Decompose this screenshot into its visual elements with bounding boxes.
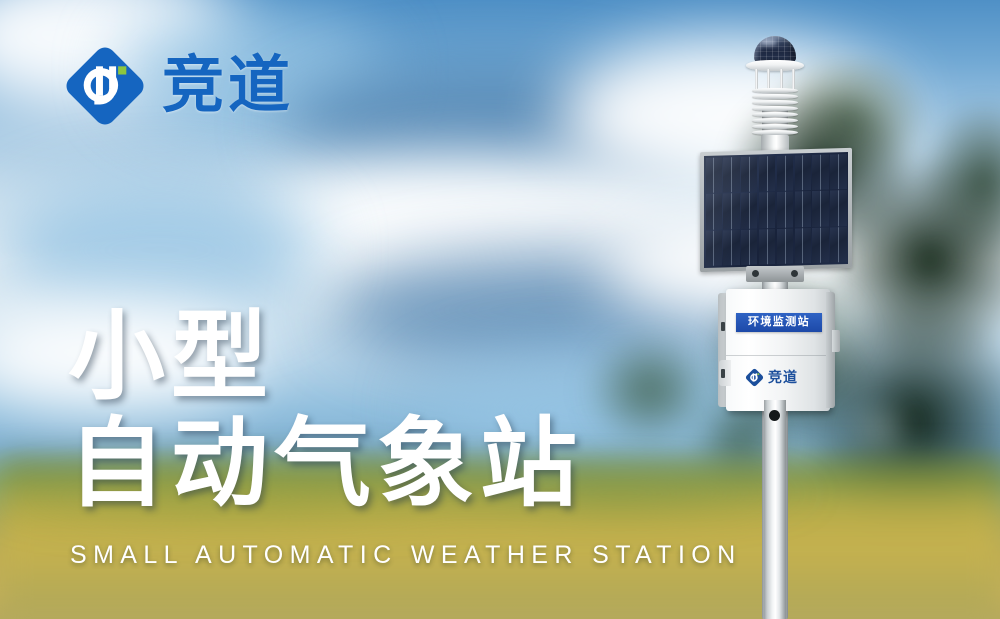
solar-cell xyxy=(812,228,828,264)
brand-name-label: 竞道 xyxy=(162,55,294,117)
solar-cell xyxy=(741,156,757,192)
control-box-latch xyxy=(832,330,840,352)
solar-cell xyxy=(777,155,793,191)
solar-cell xyxy=(812,154,828,190)
mast-pole-lower xyxy=(764,400,786,619)
solar-cell xyxy=(706,231,722,267)
bracket-bolt xyxy=(791,270,798,277)
control-box-seam xyxy=(726,355,830,356)
solar-cell xyxy=(795,228,811,264)
status-banner: 环境监测站 xyxy=(736,313,822,332)
solar-cell xyxy=(759,192,775,228)
solar-cell xyxy=(777,192,793,228)
jingdao-diamond-logo-icon xyxy=(64,45,146,127)
louver xyxy=(752,88,798,93)
louver xyxy=(752,118,798,123)
solar-cell xyxy=(795,155,811,191)
louver xyxy=(752,112,798,117)
bracket-bolt xyxy=(752,270,759,277)
cable-gland xyxy=(721,322,725,331)
solar-cell xyxy=(741,230,757,266)
jingdao-diamond-logo-icon xyxy=(745,368,764,387)
cable-gland xyxy=(721,369,725,378)
subtitle-label: SMALL AUTOMATIC WEATHER STATION xyxy=(70,541,742,570)
headline-line-1: 小型 xyxy=(68,306,583,409)
headline-line-2: 自动气象站 xyxy=(68,413,583,516)
solar-cell xyxy=(830,227,846,263)
radiation-shield-louvers xyxy=(752,88,798,136)
solar-cell xyxy=(741,193,757,229)
louver xyxy=(752,100,798,105)
solar-cell xyxy=(812,191,828,227)
solar-panel-icon xyxy=(700,148,852,272)
solar-cell xyxy=(777,229,793,265)
solar-cell xyxy=(830,190,846,226)
mast-cable-port-icon xyxy=(769,410,780,421)
control-enclosure-icon xyxy=(726,289,830,411)
solar-cell xyxy=(706,157,722,193)
solar-cell xyxy=(723,193,739,229)
solar-cell xyxy=(830,154,846,190)
control-box-brand-label: 竞道 xyxy=(768,370,798,384)
solar-cell xyxy=(723,230,739,266)
louver xyxy=(752,106,798,111)
solar-cell xyxy=(759,229,775,265)
solar-cell xyxy=(795,191,811,227)
banner-stage: 环境监测站 竞道 xyxy=(0,0,1000,619)
louver xyxy=(752,124,798,129)
ultrasonic-weather-sensor-icon xyxy=(744,36,806,156)
solar-cell xyxy=(706,194,722,230)
sensor-dome-highlight xyxy=(761,39,777,46)
control-box-brand: 竞道 xyxy=(745,366,815,388)
status-banner-label: 环境监测站 xyxy=(748,317,810,328)
louver xyxy=(752,94,798,99)
solar-cell-grid xyxy=(704,152,848,268)
brand-logo: 竞道 xyxy=(64,45,294,127)
headline: 小型 自动气象站 xyxy=(68,306,583,516)
solar-cell xyxy=(723,157,739,193)
solar-cell xyxy=(759,156,775,192)
